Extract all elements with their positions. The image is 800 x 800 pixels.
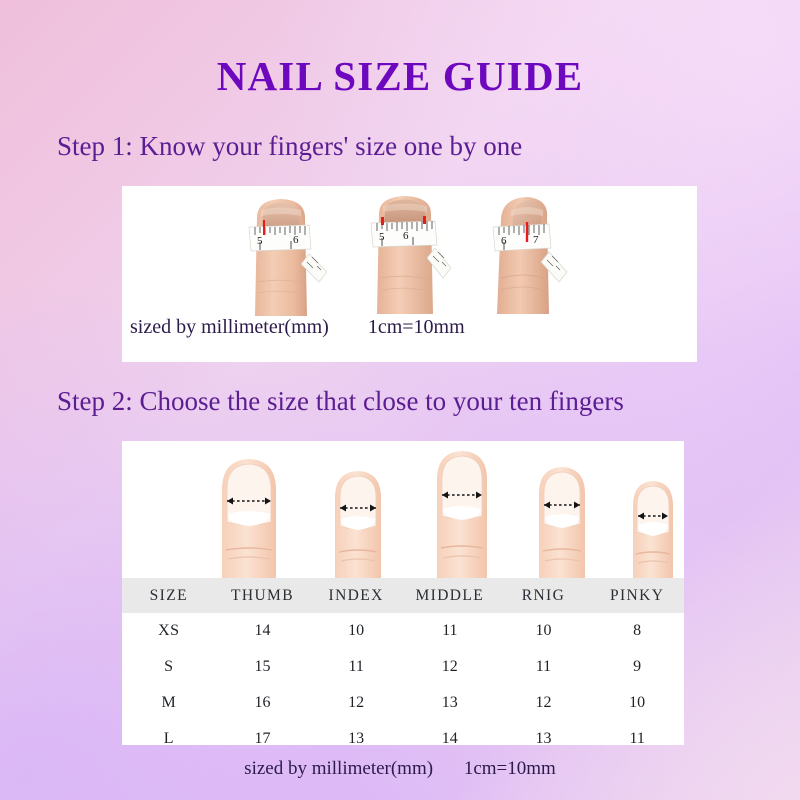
step-2-heading: Step 2: Choose the size that close to yo…	[57, 386, 624, 417]
finger-tape-photo-2: 5 6	[359, 192, 451, 314]
finger-illustration-pinky	[630, 478, 676, 578]
svg-text:5: 5	[379, 231, 385, 243]
column-header-index: INDEX	[309, 578, 403, 613]
table-row: XS 14 10 11 10 8	[122, 613, 684, 649]
column-header-middle: MIDDLE	[403, 578, 497, 613]
cell-pinky: 8	[590, 613, 684, 649]
cell-middle: 14	[403, 721, 497, 757]
cell-index: 10	[309, 613, 403, 649]
cell-ring: 13	[497, 721, 591, 757]
step-2-chart-panel: SIZE THUMB INDEX MIDDLE RNIG PINKY XS 14…	[122, 441, 684, 745]
finger-tape-photo-3: 6 7	[477, 192, 569, 314]
cell-thumb: 14	[216, 613, 310, 649]
nail-size-table: SIZE THUMB INDEX MIDDLE RNIG PINKY XS 14…	[122, 578, 684, 757]
finger-tape-photo-1: 5 6	[235, 194, 327, 316]
table-row: M 16 12 13 12 10	[122, 685, 684, 721]
bottom-caption: sized by millimeter(mm) 1cm=10mm	[0, 758, 800, 780]
bottom-caption-unit: sized by millimeter(mm)	[244, 758, 433, 779]
cell-thumb: 16	[216, 685, 310, 721]
cell-pinky: 9	[590, 649, 684, 685]
cell-middle: 13	[403, 685, 497, 721]
column-header-ring: RNIG	[497, 578, 591, 613]
cell-size: S	[122, 649, 216, 685]
cell-thumb: 15	[216, 649, 310, 685]
cell-size: XS	[122, 613, 216, 649]
svg-text:6: 6	[501, 235, 507, 247]
table-row: L 17 13 14 13 11	[122, 721, 684, 757]
cell-index: 12	[309, 685, 403, 721]
bottom-caption-conversion: 1cm=10mm	[464, 758, 556, 779]
column-header-thumb: THUMB	[216, 578, 310, 613]
cell-ring: 10	[497, 613, 591, 649]
finger-illustration-index	[332, 468, 384, 578]
photo-caption-conversion: 1cm=10mm	[368, 316, 465, 338]
finger-illustration-row	[122, 441, 684, 578]
cell-ring: 11	[497, 649, 591, 685]
nail-size-guide-page: NAIL SIZE GUIDE Step 1: Know your finger…	[0, 0, 800, 800]
finger-photo-row: 5 6	[122, 192, 697, 317]
svg-text:6: 6	[293, 234, 299, 246]
svg-text:7: 7	[533, 234, 539, 246]
photo-caption-unit: sized by millimeter(mm)	[130, 316, 329, 338]
column-header-pinky: PINKY	[590, 578, 684, 613]
column-header-size: SIZE	[122, 578, 216, 613]
svg-text:6: 6	[403, 230, 409, 242]
finger-illustration-thumb	[218, 456, 280, 578]
cell-thumb: 17	[216, 721, 310, 757]
cell-ring: 12	[497, 685, 591, 721]
cell-pinky: 11	[590, 721, 684, 757]
cell-middle: 12	[403, 649, 497, 685]
cell-pinky: 10	[590, 685, 684, 721]
cell-middle: 11	[403, 613, 497, 649]
finger-illustration-middle	[434, 448, 490, 578]
step-1-heading: Step 1: Know your fingers' size one by o…	[57, 131, 522, 162]
table-row: S 15 11 12 11 9	[122, 649, 684, 685]
photo-panel-caption: sized by millimeter(mm) 1cm=10mm	[130, 316, 690, 339]
cell-size: L	[122, 721, 216, 757]
table-header-row: SIZE THUMB INDEX MIDDLE RNIG PINKY	[122, 578, 684, 613]
step-1-photo-panel: 5 6	[122, 186, 697, 362]
finger-illustration-ring	[536, 464, 588, 578]
cell-index: 13	[309, 721, 403, 757]
svg-text:5: 5	[257, 235, 263, 247]
page-title: NAIL SIZE GUIDE	[0, 52, 800, 100]
cell-index: 11	[309, 649, 403, 685]
cell-size: M	[122, 685, 216, 721]
